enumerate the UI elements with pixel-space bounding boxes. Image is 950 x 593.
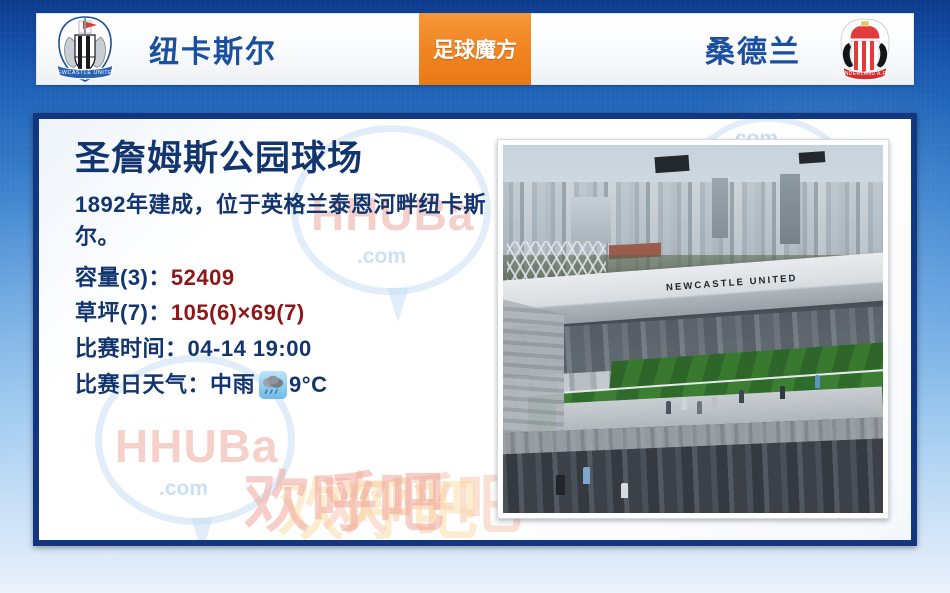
weather-separator: ： [188, 367, 211, 403]
photo-speaker-right [799, 151, 826, 164]
away-team-name: 桑德兰 [531, 27, 817, 71]
capacity-row: 容量(3) ： 52409 [75, 260, 505, 296]
photo-spectator [697, 401, 702, 414]
photo-speaker-left [654, 155, 689, 173]
newcastle-united-crest-icon: NEWCASTLE UNITED [49, 13, 121, 85]
match-time-separator: ： [165, 331, 188, 367]
match-time-label: 比赛时间 [75, 331, 165, 367]
away-crest-slot: SUNDERLAND A.F.C. [817, 13, 913, 85]
pitch-size-row: 草坪(7) ： 105(6)×69(7) [75, 295, 505, 331]
pitch-size-label: 草坪(7) [75, 295, 148, 331]
photo-spectator [556, 475, 565, 495]
photo-spectator [712, 397, 717, 410]
photo-spectator [666, 401, 671, 414]
photo-spectator [583, 467, 590, 484]
st-james-park-stadium-photo: NEWCASTLE UNITED [503, 145, 883, 513]
match-weather-row: 比赛日天气 ： 中雨 9°C [75, 367, 505, 403]
capacity-label: 容量(3) [75, 260, 148, 296]
home-crest-slot: NEWCASTLE UNITED [37, 13, 133, 85]
svg-text:SUNDERLAND A.F.C.: SUNDERLAND A.F.C. [837, 71, 893, 77]
photo-spectator [780, 386, 785, 399]
photo-spectator [621, 483, 628, 498]
site-logo-text: 足球魔方 [433, 34, 517, 64]
match-header-bar: NEWCASTLE UNITED 纽卡斯尔 足球魔方 桑德兰 SUNDERLAN… [36, 13, 914, 85]
capacity-value: 52409 [171, 260, 235, 296]
weather-condition: 中雨 [210, 367, 255, 403]
stadium-info-block: 圣詹姆斯公园球场 1892年建成，位于英格兰泰恩河畔纽卡斯尔。 容量(3) ： … [75, 137, 505, 402]
photo-building-left [571, 197, 611, 243]
photo-roof-caption: NEWCASTLE UNITED [666, 273, 798, 294]
weather-temperature: 9°C [289, 367, 327, 403]
pitch-size-separator: ： [148, 295, 171, 331]
site-logo-badge[interactable]: 足球魔方 [419, 13, 531, 85]
photo-spectator [739, 390, 744, 403]
pitch-size-value: 105(6)×69(7) [171, 295, 305, 331]
photo-tower-right [780, 174, 800, 244]
photo-spectator [815, 375, 820, 388]
photo-lower-tier-seats [503, 416, 883, 513]
match-time-value: 04-14 19:00 [188, 331, 312, 367]
weather-label: 比赛日天气 [75, 367, 188, 403]
rain-cloud-icon [259, 371, 287, 399]
home-team-name: 纽卡斯尔 [133, 27, 419, 71]
sunderland-afc-crest-icon: SUNDERLAND A.F.C. [829, 13, 901, 85]
photo-spectator [682, 397, 687, 410]
stadium-photo-frame: NEWCASTLE UNITED [497, 139, 889, 519]
svg-text:NEWCASTLE UNITED: NEWCASTLE UNITED [53, 70, 116, 76]
match-time-row: 比赛时间 ： 04-14 19:00 [75, 331, 505, 367]
stadium-info-panel: HHUBa .com HHUBa .com 欢呼吧 .com 圣詹姆斯公园球场 … [33, 113, 917, 546]
capacity-separator: ： [148, 260, 171, 296]
stadium-title: 圣詹姆斯公园球场 [75, 137, 505, 181]
stadium-description: 1892年建成，位于英格兰泰恩河畔纽卡斯尔。 [75, 189, 505, 254]
photo-tower-center [712, 178, 728, 238]
